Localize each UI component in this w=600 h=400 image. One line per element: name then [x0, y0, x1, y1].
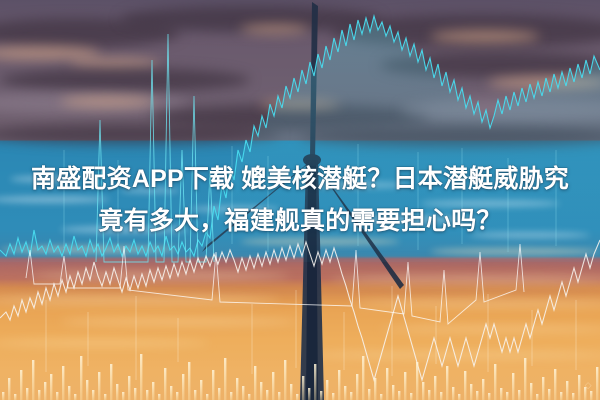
- volume-bar-series: [2, 354, 598, 400]
- watermark: ◇: [585, 380, 592, 391]
- headline-line-2: 竟有多大，福建舰真的需要担心吗？: [0, 200, 600, 242]
- headline-line-1: 南盛配资APP下载 媲美核潜艇？日本潜艇威胁究: [0, 158, 600, 200]
- headline: 南盛配资APP下载 媲美核潜艇？日本潜艇威胁究 竟有多大，福建舰真的需要担心吗？: [0, 158, 600, 242]
- article-thumbnail: 南盛配资APP下载 媲美核潜艇？日本潜艇威胁究 竟有多大，福建舰真的需要担心吗？…: [0, 0, 600, 400]
